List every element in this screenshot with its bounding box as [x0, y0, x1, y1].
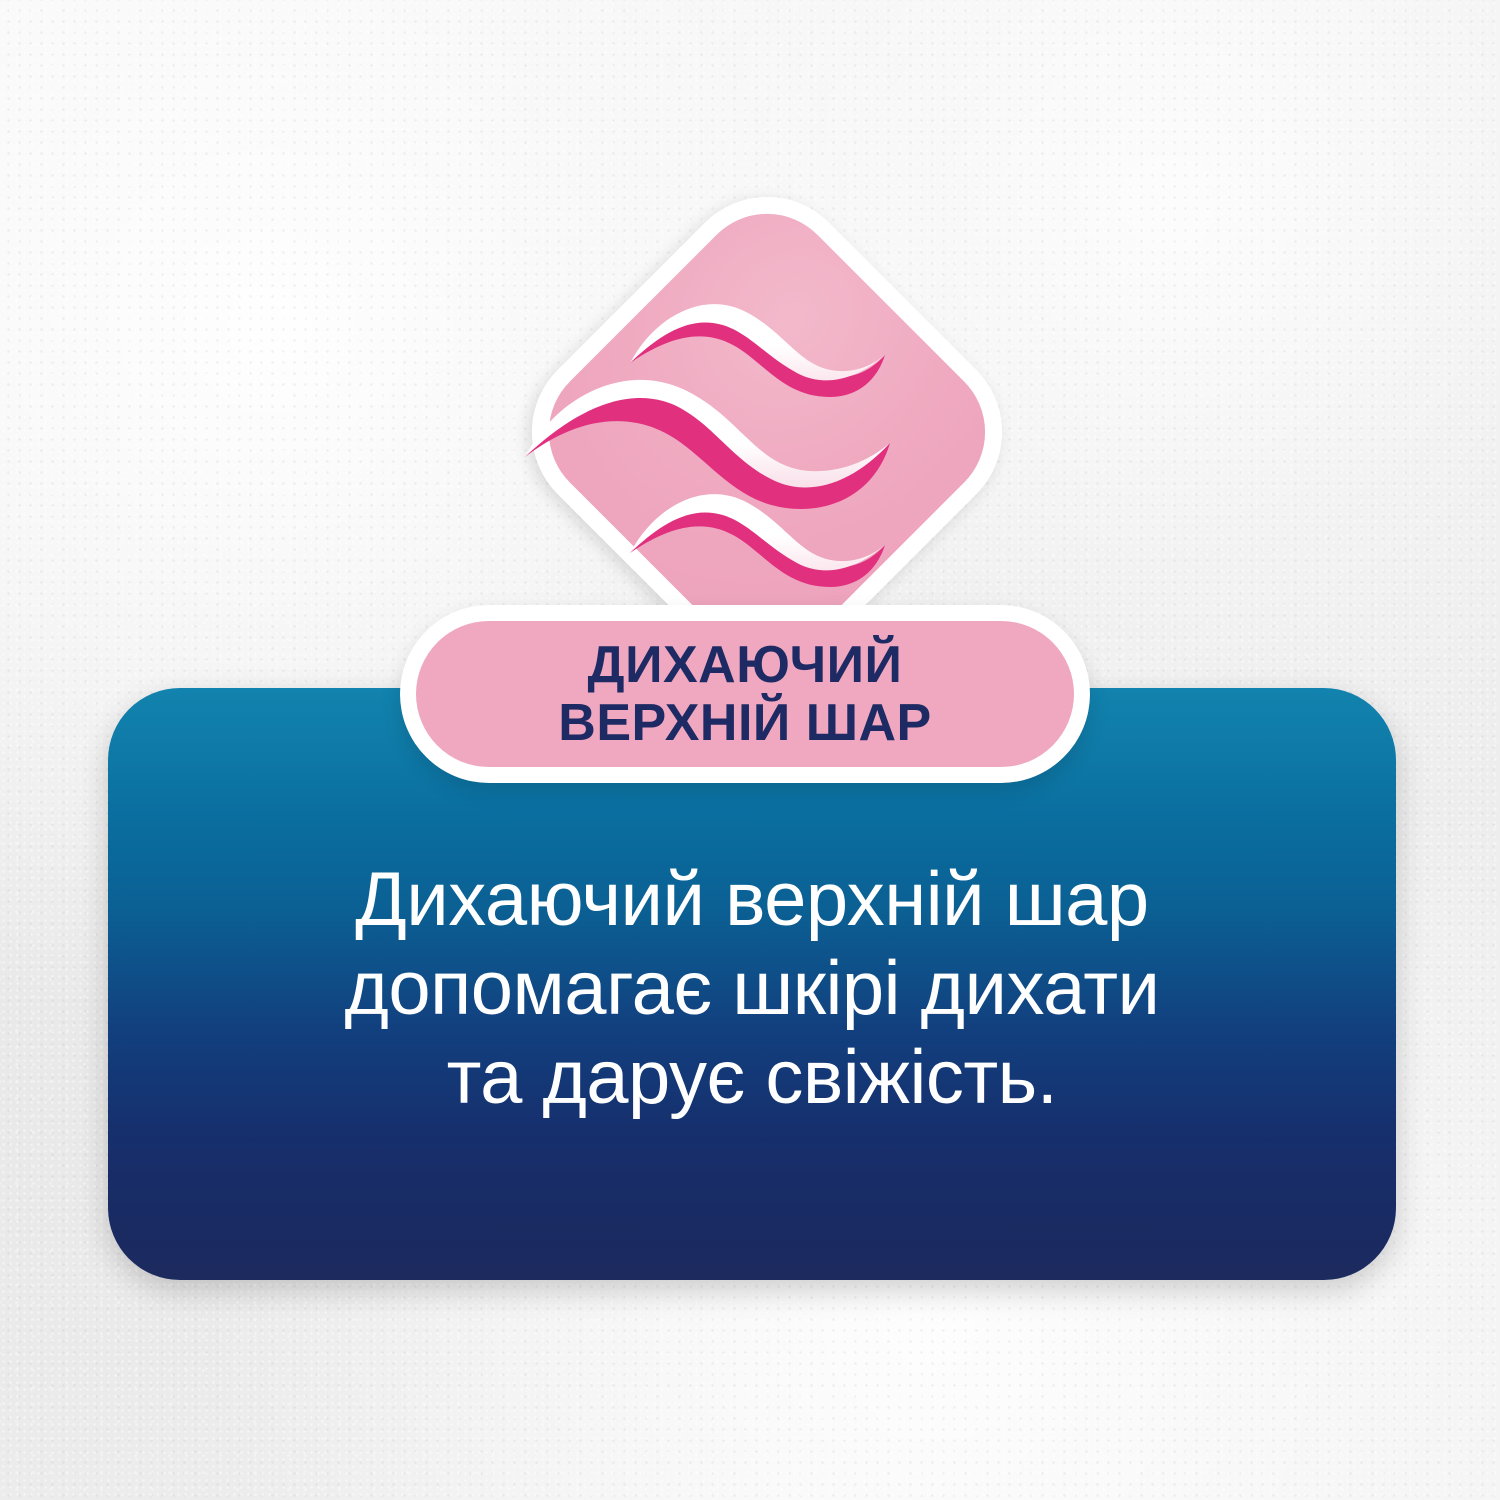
badge-pill-inner: ДИХАЮЧИЙ ВЕРХНІЙ ШАР — [416, 621, 1074, 767]
infographic-canvas: Дихаючий верхній шар допомагає шкірі дих… — [0, 0, 1500, 1500]
badge-pill: ДИХАЮЧИЙ ВЕРХНІЙ ШАР — [400, 605, 1090, 783]
wave-shape-top — [630, 304, 885, 397]
info-panel-text: Дихаючий верхній шар допомагає шкірі дих… — [108, 856, 1396, 1123]
wave-shape-bottom — [630, 494, 885, 587]
badge-group: ДИХАЮЧИЙ ВЕРХНІЙ ШАР — [0, 0, 1500, 800]
badge-label: ДИХАЮЧИЙ ВЕРХНІЙ ШАР — [558, 636, 931, 752]
wave-shape-middle — [525, 380, 890, 509]
breathable-waves-icon — [505, 205, 995, 625]
